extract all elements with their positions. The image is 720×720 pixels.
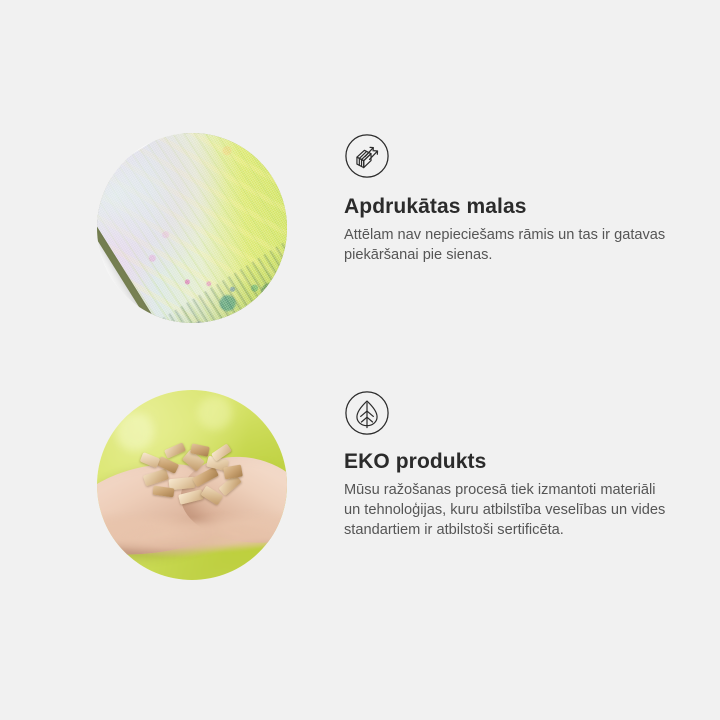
feature-description: Mūsu ražošanas procesā tiek izmantoti ma… — [344, 480, 674, 540]
feature-item-printed-edges: Apdrukātas malas Attēlam nav nepieciešam… — [0, 133, 720, 333]
feature-title: Apdrukātas malas — [344, 195, 684, 219]
feature-item-eco-product: EKO produkts Mūsu ražošanas procesā tiek… — [0, 390, 720, 590]
feature-text-column: EKO produkts Mūsu ražošanas procesā tiek… — [344, 390, 684, 540]
canvas-print-corner-photo — [97, 133, 287, 323]
canvas-weave-texture — [97, 133, 287, 323]
photo-backdrop — [97, 390, 287, 580]
wood-chips-pile — [139, 443, 257, 519]
photo-backdrop — [97, 133, 287, 323]
feature-title: EKO produkts — [344, 450, 684, 474]
feature-text-column: Apdrukātas malas Attēlam nav nepieciešam… — [344, 133, 684, 265]
feature-panel: Apdrukātas malas Attēlam nav nepieciešam… — [0, 0, 720, 720]
canvas-print-block — [97, 133, 287, 323]
canvas-front-face — [97, 133, 287, 323]
printed-edges-icon — [344, 133, 390, 179]
hands-holding-wood-chips-photo — [97, 390, 287, 580]
feature-description: Attēlam nav nepieciešams rāmis un tas ir… — [344, 225, 674, 265]
leaf-icon — [344, 390, 390, 436]
